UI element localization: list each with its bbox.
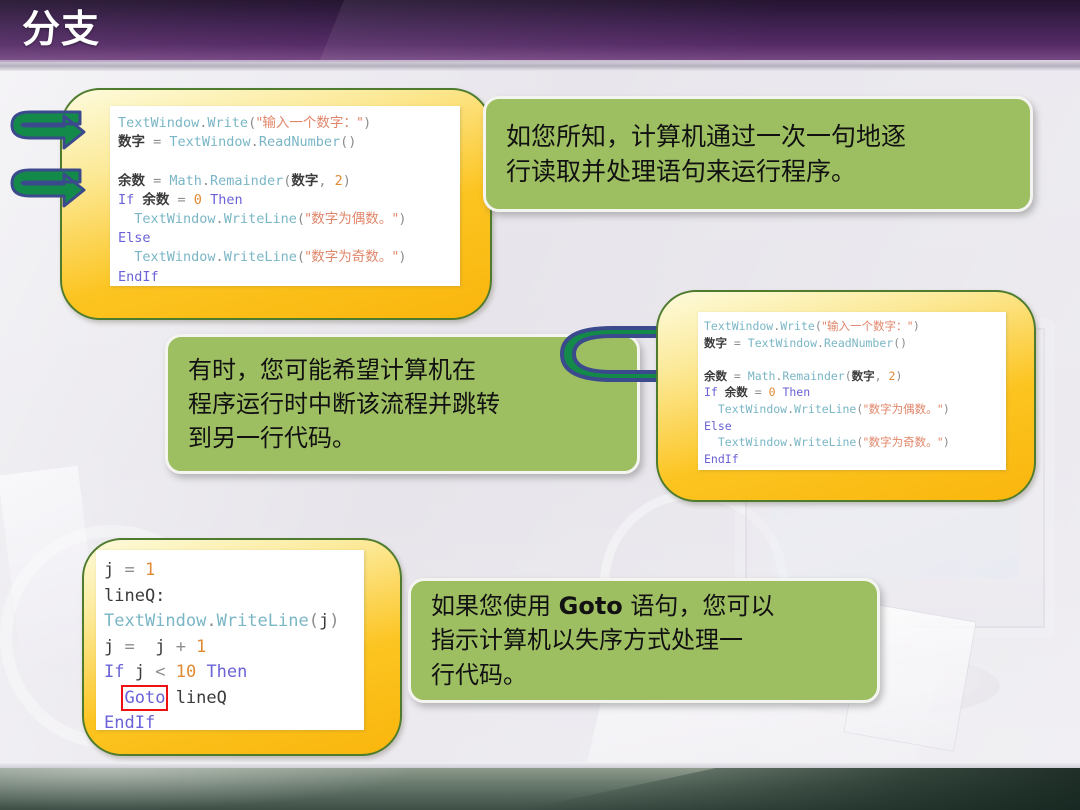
code-token: TextWindow <box>169 134 250 150</box>
code-token: = <box>114 637 155 657</box>
code-token: . <box>216 249 224 265</box>
code-token: ) <box>943 402 950 416</box>
code-token: 0 <box>769 385 776 399</box>
code-line: TextWindow.WriteLine("数字为奇数。") <box>118 248 454 267</box>
code-token: EndIf <box>104 713 155 730</box>
code-token: 余数 <box>725 385 748 399</box>
code-token: "数字为奇数。" <box>305 249 398 265</box>
code-token: TextWindow <box>118 115 199 131</box>
title-underline <box>0 62 1080 71</box>
callout-keyword: Goto <box>559 592 623 620</box>
code-token: WriteLine <box>217 611 309 631</box>
page-title: 分支 <box>22 6 100 54</box>
code-token <box>704 435 718 449</box>
code-bubble-bottom-left: j = 1lineQ:TextWindow.WriteLine(j)j = j … <box>82 538 402 756</box>
code-token: ( <box>297 211 305 227</box>
code-token: ) <box>343 173 351 189</box>
code-token <box>165 688 175 708</box>
code-token: 0 <box>194 192 202 208</box>
code-token: + <box>165 637 196 657</box>
code-token: Else <box>118 230 151 246</box>
code-line: j = j + 1 <box>104 635 358 661</box>
code-token: TextWindow <box>718 402 787 416</box>
code-token: j <box>104 560 114 580</box>
goto-keyword-highlight: Goto <box>124 688 165 708</box>
code-token: Math <box>169 173 202 189</box>
code-line: TextWindow.WriteLine("数字为奇数。") <box>704 434 1002 451</box>
code-line: 余数 = Math.Remainder(数字, 2) <box>118 172 454 191</box>
code-token: = <box>145 134 169 150</box>
code-text-goto-loop: j = 1lineQ:TextWindow.WriteLine(j)j = j … <box>96 550 364 730</box>
code-token: j <box>104 637 114 657</box>
code-token: Then <box>210 192 243 208</box>
code-token: 余数 <box>142 192 169 208</box>
code-token: . <box>787 402 794 416</box>
code-token: 1 <box>145 560 155 580</box>
code-token: TextWindow <box>748 336 817 350</box>
code-token: , <box>875 369 889 383</box>
code-bubble-top-left: TextWindow.Write("输入一个数字：")数字 = TextWind… <box>60 88 492 320</box>
code-token: 2 <box>335 173 343 189</box>
code-token: EndIf <box>118 269 159 285</box>
code-line: EndIf <box>704 451 1002 468</box>
loop-arrow-left-bottom-icon <box>8 162 88 214</box>
code-token <box>718 385 725 399</box>
code-line: TextWindow.Write("输入一个数字：") <box>118 114 454 133</box>
code-token: "输入一个数字：" <box>822 319 913 333</box>
code-token: TextWindow <box>134 249 215 265</box>
code-token: TextWindow <box>704 319 773 333</box>
code-token: = <box>114 560 145 580</box>
code-token: If <box>704 385 718 399</box>
code-token: . <box>206 611 216 631</box>
code-token: "数字为奇数。" <box>863 435 943 449</box>
code-line: Goto lineQ <box>104 686 358 712</box>
code-token <box>118 249 134 265</box>
code-token: = <box>145 173 169 189</box>
code-token: = <box>727 336 748 350</box>
code-token: ) <box>895 369 902 383</box>
code-token: ) <box>913 319 920 333</box>
code-token: TextWindow <box>104 611 206 631</box>
code-token: Else <box>704 419 732 433</box>
code-line: TextWindow.WriteLine("数字为偶数。") <box>704 401 1002 418</box>
code-token: . <box>251 134 259 150</box>
code-token: "数字为偶数。" <box>863 402 943 416</box>
code-token: Write <box>207 115 248 131</box>
code-token: 数字 <box>118 134 145 150</box>
callout-interrupt-flow-text: 有时，您可能希望计算机在 程序运行时中断该流程并跳转 到另一行代码。 <box>168 353 514 455</box>
code-token: Remainder <box>210 173 283 189</box>
code-token: ( <box>309 611 319 631</box>
footer-bar <box>0 768 1080 810</box>
code-token: . <box>202 173 210 189</box>
code-token <box>202 192 210 208</box>
code-token: Math <box>748 369 776 383</box>
code-token: . <box>817 336 824 350</box>
code-line: TextWindow.WriteLine("数字为偶数。") <box>118 210 454 229</box>
code-token: lineQ <box>176 688 227 708</box>
code-token: ) <box>329 611 339 631</box>
code-line: Else <box>704 418 1002 435</box>
code-pane-right: TextWindow.Write("输入一个数字：")数字 = TextWind… <box>698 312 1006 470</box>
code-token: EndIf <box>704 452 739 466</box>
code-token: Write <box>780 319 815 333</box>
code-line: If 余数 = 0 Then <box>704 384 1002 401</box>
code-token: ( <box>248 115 256 131</box>
callout-sequential-execution-text: 如您所知，计算机通过一次一句地逐 行读取并处理语句来运行程序。 <box>486 119 920 190</box>
code-line: Else <box>118 229 454 248</box>
code-token: ( <box>845 369 852 383</box>
code-line: 数字 = TextWindow.ReadNumber() <box>704 335 1002 352</box>
title-bar: 分支 <box>0 0 1080 62</box>
callout-text-run: 如果您使用 <box>431 592 559 620</box>
code-token: 数字 <box>704 336 727 350</box>
code-token: () <box>893 336 907 350</box>
code-line: lineQ: <box>104 584 358 610</box>
code-token: lineQ: <box>104 586 165 606</box>
code-line: 余数 = Math.Remainder(数字, 2) <box>704 368 1002 385</box>
slide-canvas: 分支 TextWindow.Write("输入一个数字：")数字 = TextW… <box>0 0 1080 810</box>
code-line: 数字 = TextWindow.ReadNumber() <box>118 133 454 152</box>
callout-goto-statement: 如果您使用 Goto 语句，您可以 指示计算机以失序方式处理一 行代码。 <box>408 578 880 703</box>
code-pane-top-left: TextWindow.Write("输入一个数字：")数字 = TextWind… <box>110 106 460 286</box>
code-token: < <box>145 662 176 682</box>
code-line: EndIf <box>118 268 454 286</box>
code-token: "输入一个数字：" <box>256 115 363 131</box>
code-token: Remainder <box>782 369 844 383</box>
code-pane-bottom-left: j = 1lineQ:TextWindow.WriteLine(j)j = j … <box>96 550 364 730</box>
code-token: . <box>787 435 794 449</box>
code-token: ReadNumber <box>824 336 893 350</box>
code-token: j <box>155 637 165 657</box>
code-token: 数字 <box>852 369 875 383</box>
code-token: ( <box>815 319 822 333</box>
code-token: Then <box>782 385 810 399</box>
code-text-even-odd: TextWindow.Write("输入一个数字：")数字 = TextWind… <box>110 106 460 286</box>
code-token: "数字为偶数。" <box>305 211 398 227</box>
code-token: 10 <box>176 662 196 682</box>
code-token: = <box>748 385 769 399</box>
code-token <box>118 211 134 227</box>
code-token: WriteLine <box>224 249 297 265</box>
code-token: Then <box>206 662 247 682</box>
code-line: TextWindow.WriteLine(j) <box>104 609 358 635</box>
code-token: = <box>169 192 193 208</box>
code-token: WriteLine <box>794 402 856 416</box>
footer-sheen <box>0 768 420 810</box>
code-bubble-right: TextWindow.Write("输入一个数字：")数字 = TextWind… <box>656 290 1036 502</box>
code-token: If <box>118 192 134 208</box>
title-bar-sheen <box>300 0 791 62</box>
code-token: If <box>104 662 124 682</box>
code-line <box>118 152 454 171</box>
code-line: j = 1 <box>104 558 358 584</box>
loop-arrow-left-top-icon <box>8 104 88 156</box>
code-token <box>124 662 134 682</box>
code-token: 数字 <box>291 173 318 189</box>
code-token: ) <box>363 115 371 131</box>
code-token: , <box>318 173 334 189</box>
code-line: If 余数 = 0 Then <box>118 191 454 210</box>
code-text-even-odd-copy: TextWindow.Write("输入一个数字：")数字 = TextWind… <box>698 312 1006 467</box>
code-token: TextWindow <box>134 211 215 227</box>
code-token <box>104 688 124 708</box>
code-token: ) <box>398 249 406 265</box>
code-line: If j < 10 Then <box>104 660 358 686</box>
code-token: () <box>340 134 356 150</box>
code-token <box>704 402 718 416</box>
code-line <box>704 351 1002 368</box>
callout-sequential-execution: 如您所知，计算机通过一次一句地逐 行读取并处理语句来运行程序。 <box>483 96 1033 212</box>
footer-shade <box>520 768 1080 810</box>
code-line: TextWindow.Write("输入一个数字：") <box>704 318 1002 335</box>
callout-goto-statement-text: 如果您使用 Goto 语句，您可以 指示计算机以失序方式处理一 行代码。 <box>411 589 788 691</box>
code-token: j <box>135 662 145 682</box>
code-token: = <box>727 369 748 383</box>
code-token: WriteLine <box>794 435 856 449</box>
code-token: 1 <box>196 637 206 657</box>
code-token: 余数 <box>118 173 145 189</box>
code-token: j <box>319 611 329 631</box>
code-line: EndIf <box>104 711 358 730</box>
code-token: WriteLine <box>224 211 297 227</box>
code-token: TextWindow <box>718 435 787 449</box>
code-token: ( <box>297 249 305 265</box>
code-token: . <box>216 211 224 227</box>
code-token <box>196 662 206 682</box>
code-token: ) <box>398 211 406 227</box>
code-token: ReadNumber <box>259 134 340 150</box>
code-token: 余数 <box>704 369 727 383</box>
code-token: ) <box>943 435 950 449</box>
